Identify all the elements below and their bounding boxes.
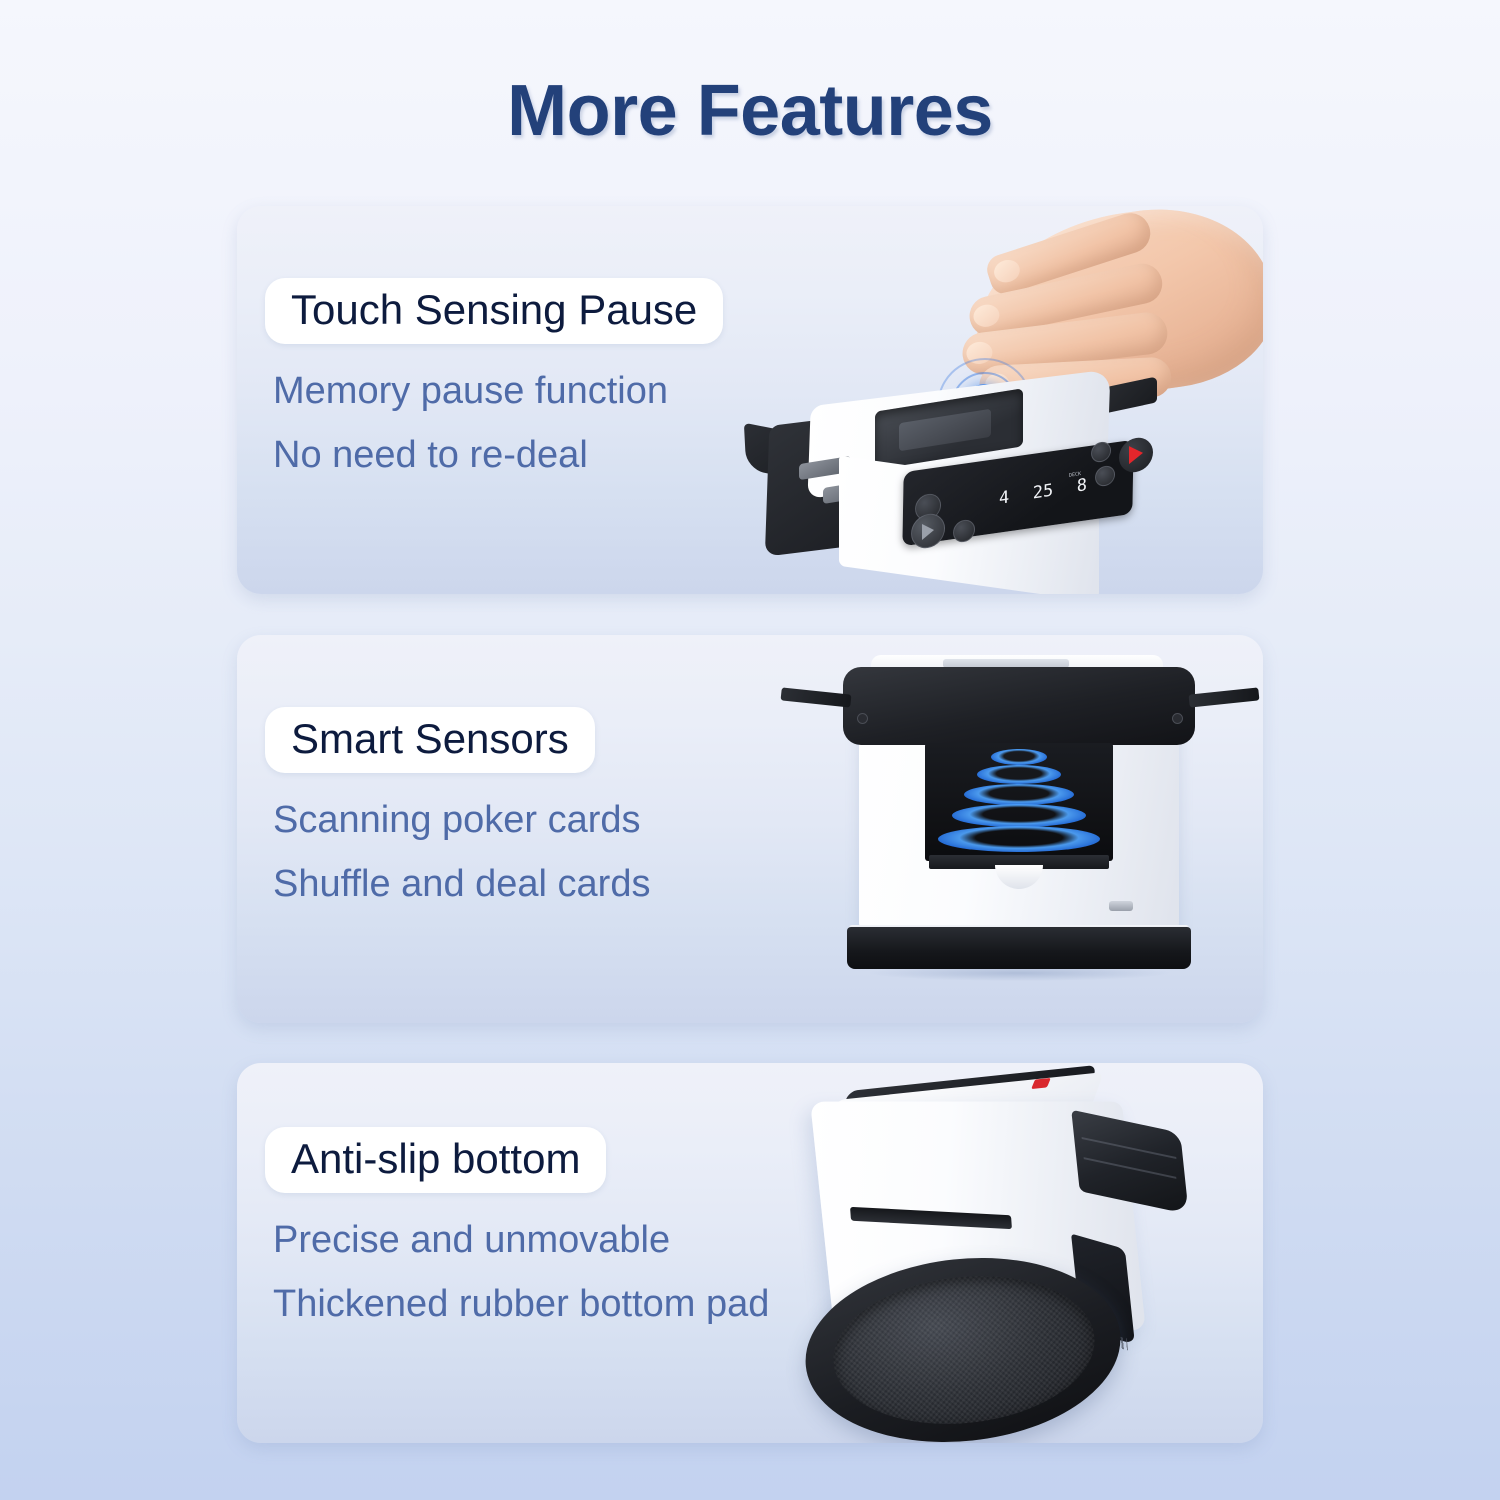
device-screw-left (857, 713, 868, 724)
page-title: More Features (0, 70, 1500, 152)
feature-bullet: Shuffle and deal cards (273, 865, 650, 903)
scan-ring-icon (991, 749, 1047, 765)
feature-label-pill: Anti-slip bottom (265, 1127, 606, 1193)
scan-ring-icon (964, 784, 1074, 805)
feature-label-pill: Touch Sensing Pause (265, 278, 723, 344)
feature-card-smart-sensors: Smart Sensors Scanning poker cards Shuff… (237, 635, 1263, 1023)
scan-ring-icon (938, 826, 1100, 852)
card-shuffler-device: DECK 4 25 8 (747, 382, 1247, 592)
fingernail (971, 302, 1001, 329)
feature-bullet: Memory pause function (273, 372, 723, 410)
device-scan-cavity (925, 743, 1113, 861)
scan-ring-icon (977, 765, 1061, 784)
feature-text-block: Smart Sensors Scanning poker cards Shuff… (265, 707, 650, 903)
scan-ring-icon (952, 804, 1086, 827)
feature-label-pill: Smart Sensors (265, 707, 595, 773)
lcd-value-cards: 25 (1033, 482, 1053, 502)
device-arm-left (781, 687, 852, 707)
device-base (847, 927, 1191, 969)
feature-label: Anti-slip bottom (291, 1136, 580, 1181)
feature-text-block: Touch Sensing Pause Memory pause functio… (265, 278, 723, 474)
device-port (1109, 901, 1133, 911)
feature-label: Touch Sensing Pause (291, 287, 697, 332)
feature-bullet: No need to re-deal (273, 436, 723, 474)
device-arm-right (1189, 687, 1260, 707)
deal-triangle-icon (922, 522, 934, 540)
feature-label: Smart Sensors (291, 716, 569, 761)
product-image-touch-sensor: DECK 4 25 8 (737, 206, 1263, 594)
feature-bullet-list: Scanning poker cards Shuffle and deal ca… (265, 801, 650, 903)
fingernail (991, 257, 1023, 286)
product-image-smart-sensors (777, 643, 1263, 1015)
feature-bullet: Precise and unmovable (273, 1221, 769, 1259)
feature-bullet-list: Memory pause function No need to re-deal (265, 372, 723, 474)
lcd-value-players: 4 (999, 489, 1009, 508)
feature-bullet: Thickened rubber bottom pad (273, 1285, 769, 1323)
feature-text-block: Anti-slip bottom Precise and unmovable T… (265, 1127, 769, 1323)
feature-bullet: Scanning poker cards (273, 801, 650, 839)
device-screw-right (1172, 713, 1183, 724)
feature-bullet-list: Precise and unmovable Thickened rubber b… (265, 1221, 769, 1323)
lcd-value-decks: 8 (1077, 477, 1087, 496)
product-image-anti-slip-bottom (777, 1063, 1263, 1443)
feature-card-touch-sensing-pause: Touch Sensing Pause Memory pause functio… (237, 206, 1263, 594)
device-top-hood (843, 667, 1195, 745)
feature-card-anti-slip-bottom: Anti-slip bottom Precise and unmovable T… (237, 1063, 1263, 1443)
